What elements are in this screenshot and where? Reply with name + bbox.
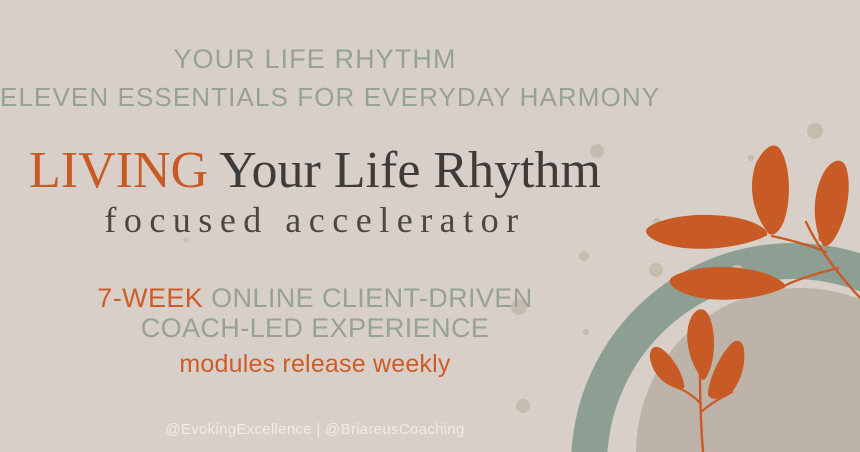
poster-canvas: YOUR LIFE RHYTHM ELEVEN ESSENTIALS FOR E… xyxy=(0,0,860,452)
detail-line-2: COACH-LED EXPERIENCE xyxy=(0,313,630,344)
social-handles: @EvokingExcellence | @BriareusCoaching xyxy=(0,421,630,438)
eyebrow-line-2: ELEVEN ESSENTIALS FOR EVERYDAY HARMONY xyxy=(0,82,630,113)
headline-rest: Your Life Rhythm xyxy=(208,142,601,199)
headline-accent-word: LIVING xyxy=(29,142,208,199)
text-layer: YOUR LIFE RHYTHM ELEVEN ESSENTIALS FOR E… xyxy=(0,0,860,452)
headline-subtitle: focused accelerator xyxy=(0,199,630,241)
detail-line-3: modules release weekly xyxy=(0,350,630,379)
detail-line-1: 7-WEEK ONLINE CLIENT-DRIVEN xyxy=(0,283,630,314)
detail-line-1-rest: ONLINE CLIENT-DRIVEN xyxy=(203,283,532,313)
page-title: LIVING Your Life Rhythm xyxy=(0,142,630,200)
detail-duration: 7-WEEK xyxy=(97,283,203,313)
eyebrow-line-1: YOUR LIFE RHYTHM xyxy=(0,44,630,75)
